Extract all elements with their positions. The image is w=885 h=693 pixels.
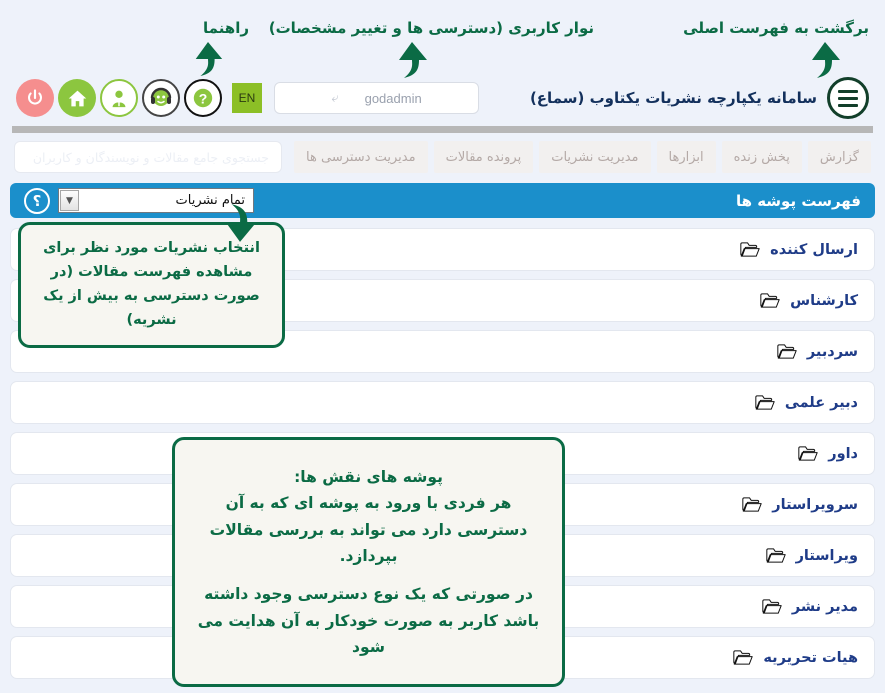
folder-row-scientific-secretary[interactable]: دبیر علمی [10, 381, 875, 424]
main-menu-tabs: گزارش پخش زنده ابزارها مدیریت نشریات پرو… [14, 140, 871, 174]
folder-icon [742, 496, 762, 513]
user-selector[interactable]: godadmin ⤶ [274, 82, 479, 114]
tab-journal-management[interactable]: مدیریت نشریات [539, 141, 650, 173]
chevron-down-icon[interactable]: ⤶ [331, 92, 338, 105]
app-title: سامانه یکپارچه نشریات یکتاوب (سماع) [530, 89, 817, 107]
folder-icon [777, 343, 797, 360]
help-icon[interactable]: ? [184, 79, 222, 117]
folder-list-header: فهرست پوشه ها تمام نشریات ▼ ؟ [10, 183, 875, 218]
section-help-icon[interactable]: ؟ [24, 188, 50, 214]
folder-icon [740, 241, 760, 258]
annotation-user-bar: نوار کاربری (دسترسی ها و تغییر مشخصات) [269, 19, 594, 37]
folder-label: دبیر علمی [785, 395, 858, 411]
folder-label: هیات تحریریه [763, 650, 858, 666]
folder-label: ویراستار [796, 548, 858, 564]
brand-area: سامانه یکپارچه نشریات یکتاوب (سماع) [530, 77, 869, 119]
tooltip-role-folders-title: پوشه های نقش ها: [195, 464, 542, 490]
header-icon-row: ? [16, 79, 222, 117]
hamburger-line [838, 97, 858, 100]
support-icon[interactable] [142, 79, 180, 117]
home-glyph [67, 88, 88, 109]
folder-label: سرویراستار [772, 497, 858, 513]
folder-icon [755, 394, 775, 411]
hamburger-line [838, 90, 858, 93]
search-input[interactable]: جستجوی جامع مقالات و نویسندگان و کاربران [14, 141, 282, 173]
folder-label: ارسال کننده [770, 242, 858, 258]
user-profile-glyph [108, 87, 130, 109]
tab-live-broadcast[interactable]: پخش زنده [722, 141, 802, 173]
help-glyph: ? [191, 86, 215, 110]
svg-text:?: ? [199, 90, 208, 106]
chevron-down-icon[interactable]: ▼ [60, 190, 79, 211]
tooltip-role-folders-body-1: هر فردی با ورود به پوشه ای که به آن دستر… [195, 490, 542, 569]
power-glyph [25, 88, 45, 108]
hamburger-icon[interactable] [827, 77, 869, 119]
home-icon[interactable] [58, 79, 96, 117]
annotation-back-to-main-list: برگشت به فهرست اصلی [683, 19, 869, 37]
page-title: فهرست پوشه ها [736, 192, 861, 210]
tab-article-records[interactable]: پرونده مقالات [434, 141, 534, 173]
tooltip-publication-select-text: انتخاب نشریات مورد نظر برای مشاهده فهرست… [43, 240, 260, 328]
folder-icon [733, 649, 753, 666]
folder-icon [766, 547, 786, 564]
tooltip-spacer [195, 569, 542, 581]
tab-tools[interactable]: ابزارها [657, 141, 716, 173]
support-glyph [149, 86, 173, 110]
user-profile-icon[interactable] [100, 79, 138, 117]
annotation-arrow-down-publication-select [221, 202, 259, 244]
username-label: godadmin [365, 91, 422, 106]
folder-label: مدیر نشر [792, 599, 858, 615]
hamburger-line [838, 104, 858, 107]
tooltip-role-folders: پوشه های نقش ها: هر فردی با ورود به پوشه… [172, 437, 565, 687]
language-toggle-button[interactable]: EN [232, 83, 262, 113]
tab-access-management[interactable]: مدیریت دسترسی ها [294, 141, 428, 173]
folder-icon [798, 445, 818, 462]
header-divider [12, 126, 873, 133]
power-icon[interactable] [16, 79, 54, 117]
folder-label: داور [828, 446, 858, 462]
folder-label: کارشناس [790, 293, 858, 309]
annotation-help: راهنما [203, 19, 249, 37]
tab-report[interactable]: گزارش [808, 141, 871, 173]
folder-label: سردبیر [807, 344, 858, 360]
top-header-bar: سامانه یکپارچه نشریات یکتاوب (سماع) goda… [0, 72, 885, 124]
folder-icon [760, 292, 780, 309]
folder-icon [762, 598, 782, 615]
tooltip-role-folders-body-2: در صورتی که یک نوع دسترسی وجود داشته باش… [195, 581, 542, 660]
